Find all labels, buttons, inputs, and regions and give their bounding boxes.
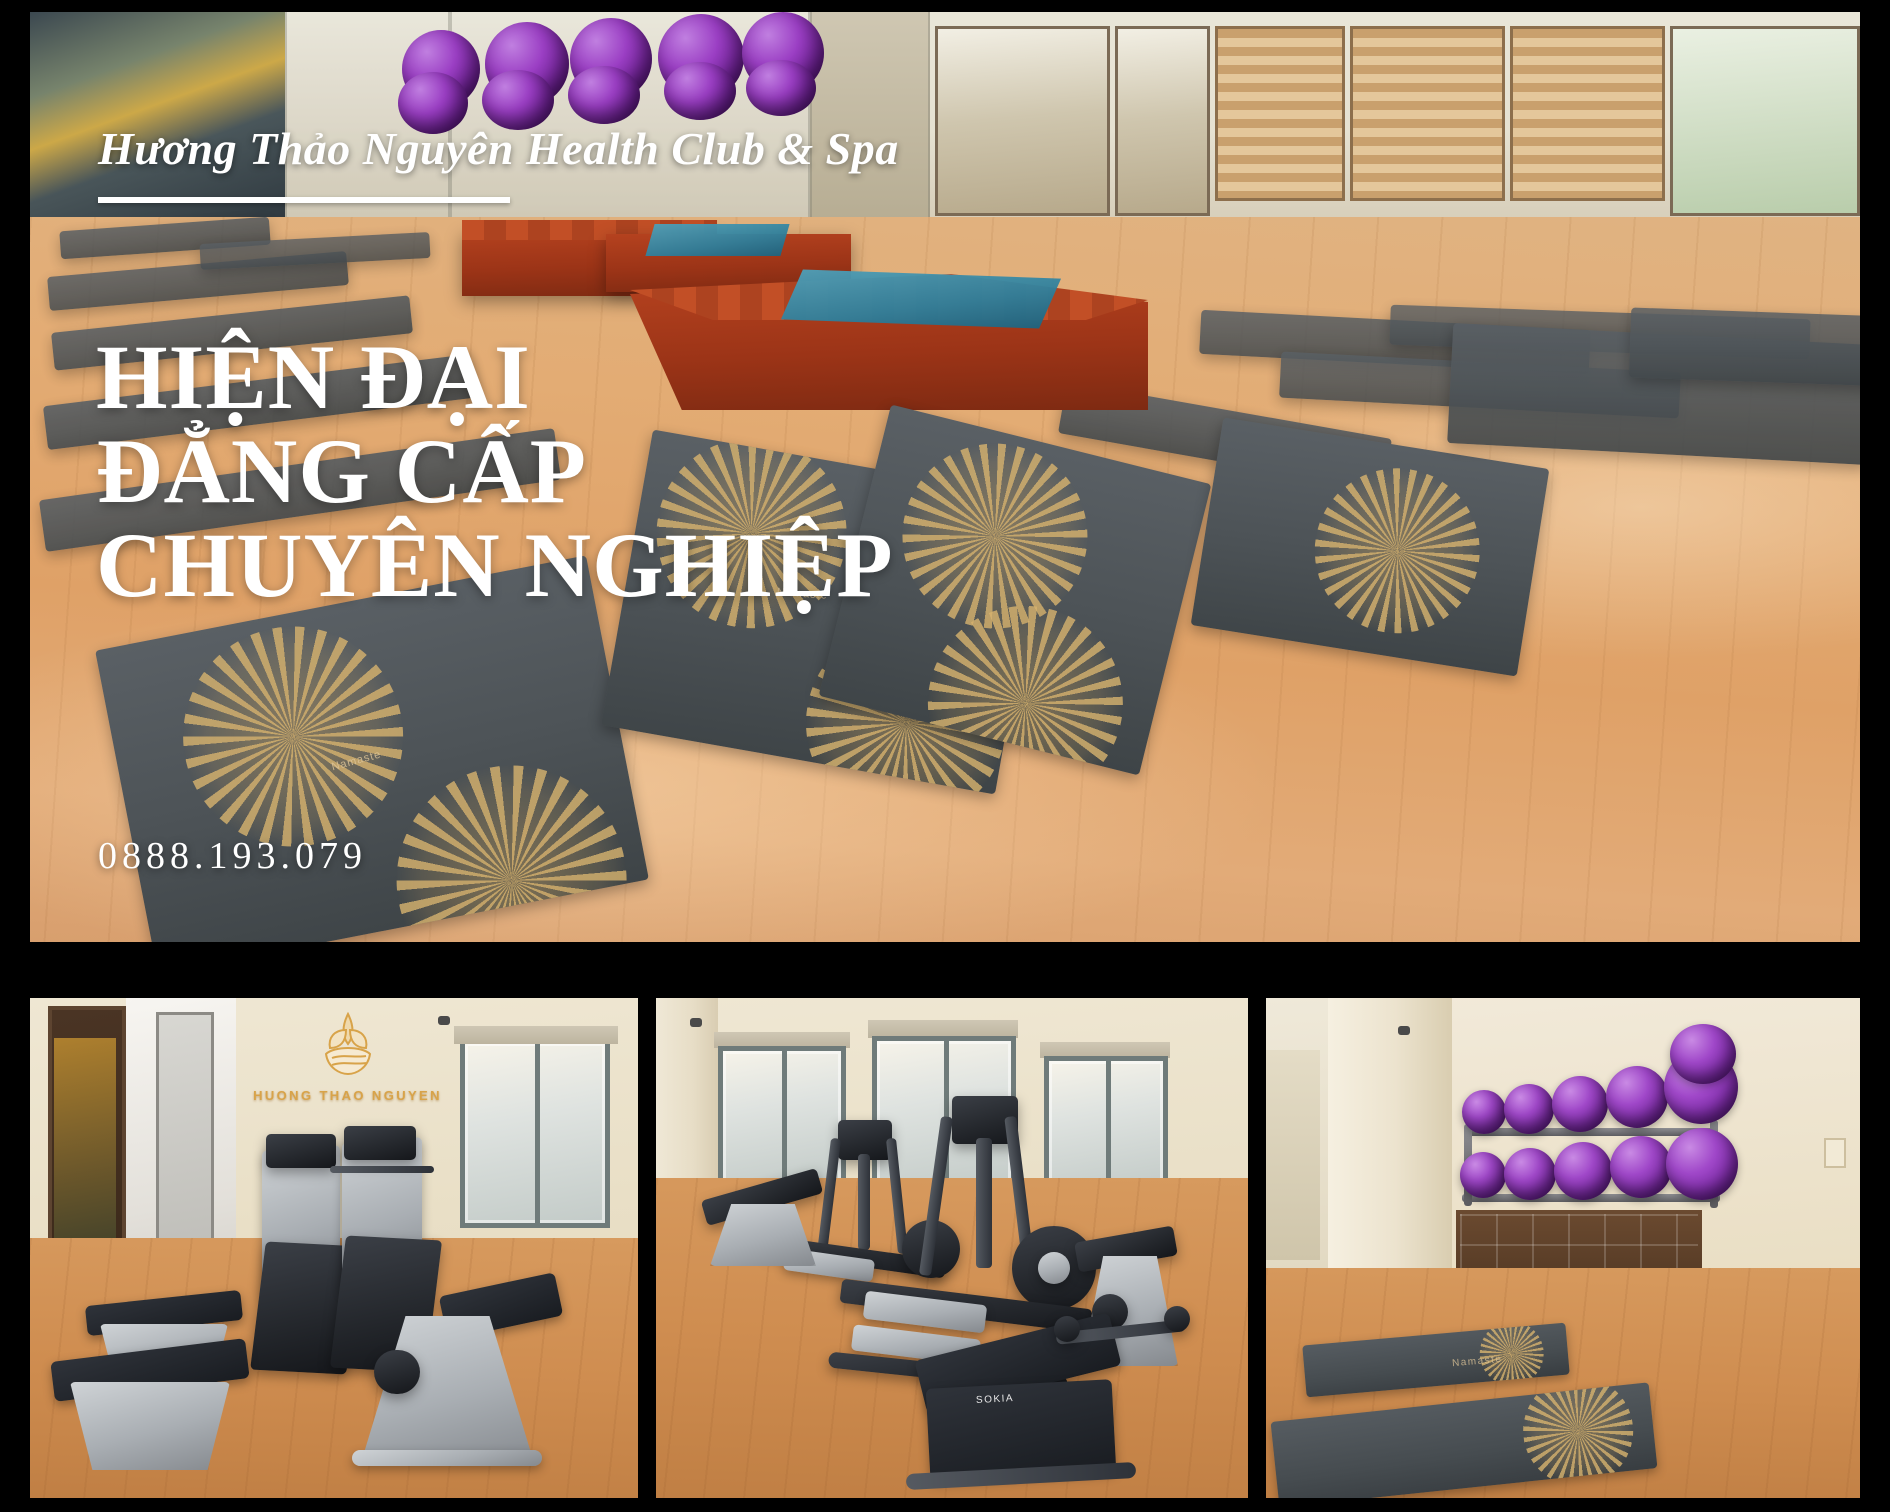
elliptical-front-mast xyxy=(976,1138,992,1268)
panel2-window-c-mullion xyxy=(1106,1056,1111,1192)
security-camera-icon xyxy=(690,1018,702,1027)
panel-elliptical-cardio: SOKIA xyxy=(656,998,1248,1498)
poster-root: Namaste Namaste Hương Thảo Nguyên Health… xyxy=(0,0,1890,1512)
panel1-window-shade xyxy=(454,1026,618,1044)
stability-ball xyxy=(1504,1084,1554,1134)
panel1-wall-logo: HUONG THAO NGUYEN xyxy=(240,1012,455,1103)
security-camera-icon xyxy=(1398,1026,1410,1035)
panel1-wall-logo-text: HUONG THAO NGUYEN xyxy=(240,1088,455,1103)
incline-bench-roller-b xyxy=(1164,1306,1190,1332)
panel-reception-cardio: HUONG THAO NGUYEN xyxy=(30,998,638,1498)
brand-title: Hương Thảo Nguyên Health Club & Spa xyxy=(98,122,899,175)
stability-ball xyxy=(1462,1090,1506,1134)
phone-number[interactable]: 0888.193.079 xyxy=(98,834,367,878)
brand-title-underline xyxy=(98,197,510,203)
headline-block: HIỆN ĐẠI ĐẲNG CẤP CHUYÊN NGHIỆP xyxy=(96,330,894,612)
security-camera-icon xyxy=(438,1016,450,1025)
treadmill-right-console xyxy=(344,1126,416,1160)
panel3-window-shade xyxy=(1266,1050,1320,1260)
stability-ball xyxy=(1460,1152,1506,1198)
stability-ball xyxy=(1554,1142,1612,1200)
lotus-flame-icon xyxy=(316,1012,380,1082)
hyperextension-bench-foot xyxy=(352,1450,542,1466)
treadmill-left-console xyxy=(266,1134,336,1168)
panel1-window-mullion xyxy=(535,1038,540,1228)
elliptical-front-flywheel-hub xyxy=(1038,1252,1070,1284)
hero-image: Namaste Namaste Hương Thảo Nguyên Health… xyxy=(30,12,1860,942)
stability-ball xyxy=(1610,1136,1672,1198)
hero-text-overlay: Hương Thảo Nguyên Health Club & Spa HIỆN… xyxy=(30,12,1860,942)
elliptical-rear-mast xyxy=(858,1154,870,1250)
stability-ball xyxy=(1504,1148,1556,1200)
panel-ball-storage: Namaste xyxy=(1266,998,1860,1498)
stability-ball xyxy=(1552,1076,1608,1132)
panel3-wall-outlet xyxy=(1824,1138,1846,1168)
stability-ball xyxy=(1606,1066,1668,1128)
incline-bench-roller-a xyxy=(1054,1316,1080,1342)
treadmill-handrail xyxy=(330,1166,434,1173)
panel2-window-a-mullion xyxy=(782,1046,787,1188)
incline-bench-brand: SOKIA xyxy=(976,1393,1015,1406)
stability-ball xyxy=(1666,1128,1738,1200)
bottom-photo-strip: HUONG THAO NGUYEN xyxy=(30,998,1860,1498)
stability-ball xyxy=(1670,1024,1736,1084)
headline-line-2: ĐẲNG CẤP xyxy=(96,424,894,518)
hyperextension-bench-roller xyxy=(374,1350,420,1394)
flat-bench-front-frame xyxy=(70,1382,230,1470)
headline-line-1: HIỆN ĐẠI xyxy=(96,330,894,424)
headline-line-3: CHUYÊN NGHIỆP xyxy=(96,518,894,612)
